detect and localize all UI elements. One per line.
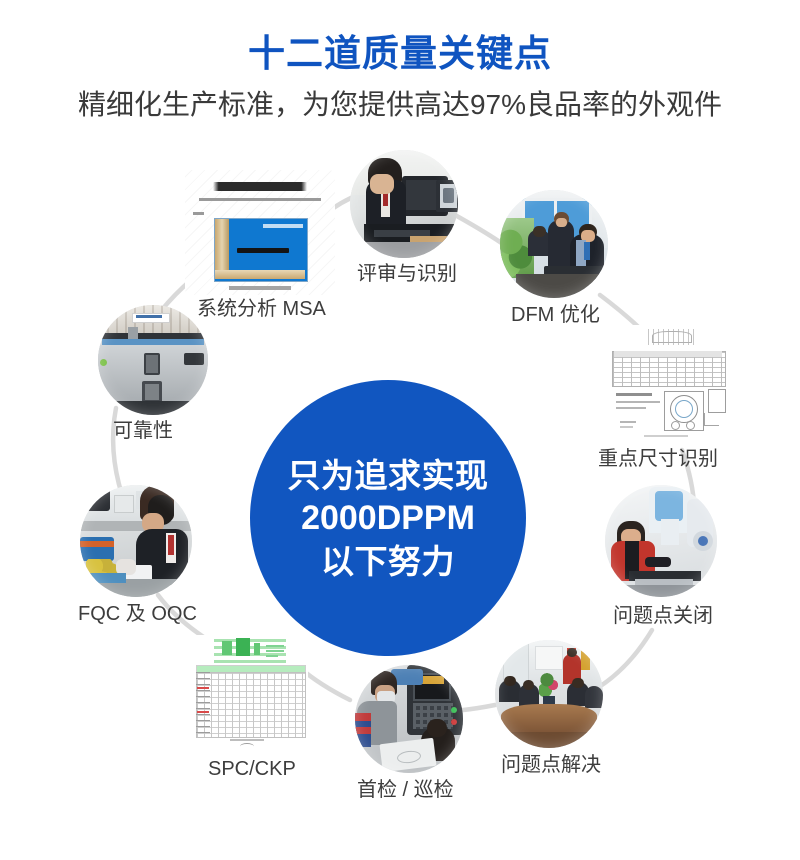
thumb-photo-worker-inspecting: [80, 485, 192, 597]
infographic-page: 十二道质量关键点 精细化生产标准，为您提供高达97%良品率的外观件: [0, 0, 800, 860]
node-label-first-patrol: 首检 / 巡检: [357, 778, 454, 802]
hub-circle: 只为追求实现 2000DPPM 以下努力: [250, 380, 526, 656]
node-label-fqc-oqc: FQC 及 OQC: [78, 602, 197, 626]
thumb-drawing-dimension-table: [608, 325, 730, 443]
thumb-sheet-spc-chart: [192, 635, 308, 751]
node-label-issue-solve: 问题点解决: [501, 753, 601, 777]
hub-line-1: 只为追求实现: [288, 454, 489, 497]
thumb-photo-cmm-operator: [605, 485, 717, 597]
page-subtitle: 精细化生产标准，为您提供高达97%良品率的外观件: [0, 76, 800, 122]
thumb-photo-team-at-computers: [500, 190, 608, 298]
node-label-key-dim: 重点尺寸识别: [598, 447, 718, 471]
node-label-msa: 系统分析 MSA: [197, 297, 326, 321]
node-label-review: 评审与识别: [357, 262, 457, 286]
node-label-dfm: DFM 优化: [511, 303, 600, 327]
node-label-spc-ckp: SPC/CKP: [208, 757, 296, 781]
node-label-issue-close: 问题点关闭: [613, 604, 713, 628]
page-title: 十二道质量关键点: [0, 0, 800, 76]
cycle-diagram: 只为追求实现 2000DPPM 以下努力 系统分: [0, 140, 800, 860]
thumb-photo-cnc-inspection: [355, 665, 463, 773]
header: 十二道质量关键点 精细化生产标准，为您提供高达97%良品率的外观件: [0, 0, 800, 122]
thumb-photo-engineer-at-desk: [350, 150, 458, 258]
thumb-doc-test-report: [185, 170, 335, 295]
node-label-reliability: 可靠性: [113, 419, 173, 443]
thumb-photo-meeting-room: [495, 640, 603, 748]
hub-line-2: 2000DPPM: [301, 497, 475, 540]
thumb-photo-test-chamber: [98, 305, 208, 415]
hub-line-3: 以下努力: [321, 540, 455, 583]
